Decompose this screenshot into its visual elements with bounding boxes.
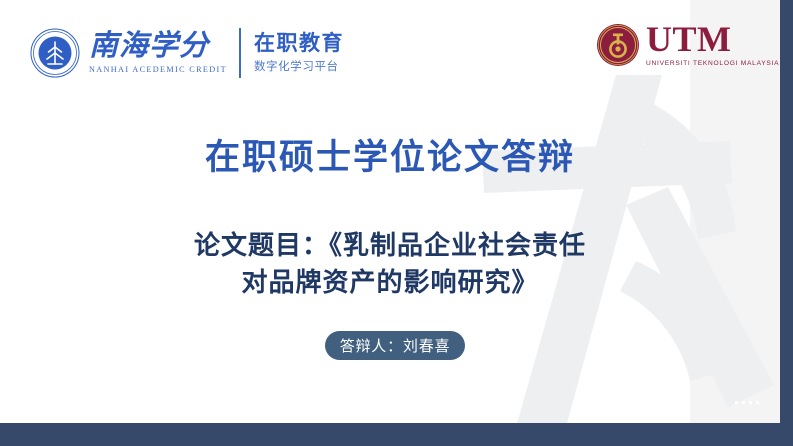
dot-icon [756, 401, 759, 404]
utm-logo: UTM UNIVERSITI TEKNOLOGI MALAYSIA [596, 20, 779, 70]
utm-seal-icon [596, 23, 640, 67]
speaker-badge: 答辩人：刘春喜 [325, 331, 465, 360]
thesis-title: 论文题目：《乳制品企业社会责任 对品牌资产的影响研究》 [0, 228, 780, 302]
brand-lockup: 南海学分 NANHAI ACEDEMIC CREDIT 在职教育 数字化学习平台 [30, 24, 344, 82]
bottom-navy-bar [0, 423, 793, 446]
brand-chinese-block: 南海学分 NANHAI ACEDEMIC CREDIT [89, 32, 227, 74]
utm-text-block: UTM UNIVERSITI TEKNOLOGI MALAYSIA [646, 23, 779, 66]
brand-divider [239, 28, 241, 78]
decorative-dot-row [735, 401, 759, 404]
brand-edu-sub: 数字化学习平台 [254, 58, 344, 74]
utm-name: UTM [646, 23, 779, 56]
dot-icon [749, 401, 752, 404]
dot-icon [742, 401, 745, 404]
nanhai-seal-icon [30, 28, 80, 78]
dot-icon [735, 401, 738, 404]
brand-edu-main: 在职教育 [254, 32, 344, 55]
page-title: 在职硕士学位论文答辩 [0, 129, 780, 180]
thesis-title-line-2: 对品牌资产的影响研究》 [0, 265, 780, 302]
presentation-title-slide: 南海学分 NANHAI ACEDEMIC CREDIT 在职教育 数字化学习平台… [0, 0, 793, 446]
thesis-title-line-1: 论文题目：《乳制品企业社会责任 [0, 228, 780, 265]
utm-subtitle: UNIVERSITI TEKNOLOGI MALAYSIA [646, 60, 779, 67]
brand-education-block: 在职教育 数字化学习平台 [254, 32, 344, 74]
brand-cn-script: 南海学分 [89, 32, 227, 62]
right-navy-bar [780, 0, 793, 446]
brand-cn-latin: NANHAI ACEDEMIC CREDIT [89, 65, 227, 74]
